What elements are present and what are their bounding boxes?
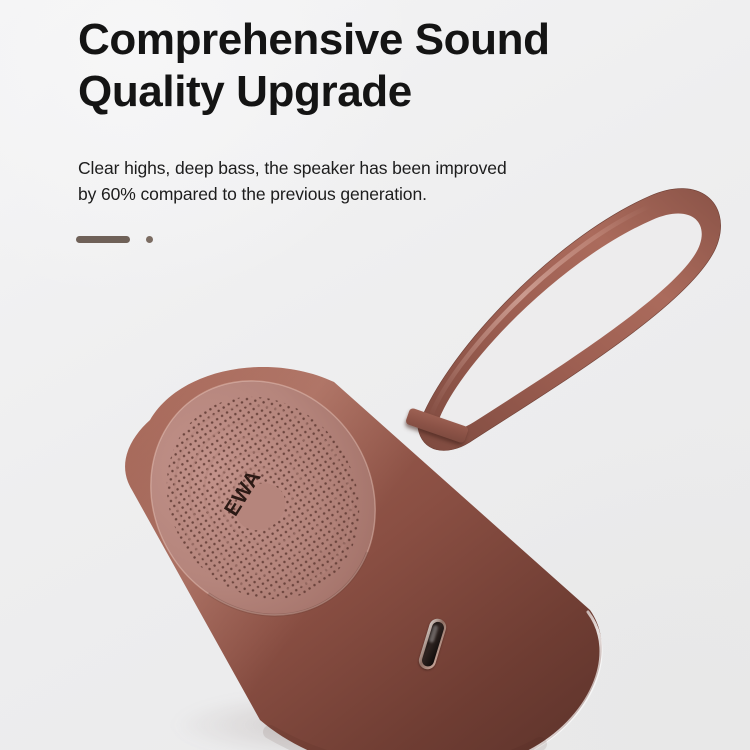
carousel-pagination[interactable] [76,234,153,244]
page-subtitle: Clear highs, deep bass, the speaker has … [78,155,678,207]
pagination-active-indicator[interactable] [76,236,130,243]
product-banner: EWA Comprehensive Sound Quality Upgrade … [0,0,750,750]
pagination-dot[interactable] [146,236,153,243]
page-title: Comprehensive Sound Quality Upgrade [78,14,678,118]
